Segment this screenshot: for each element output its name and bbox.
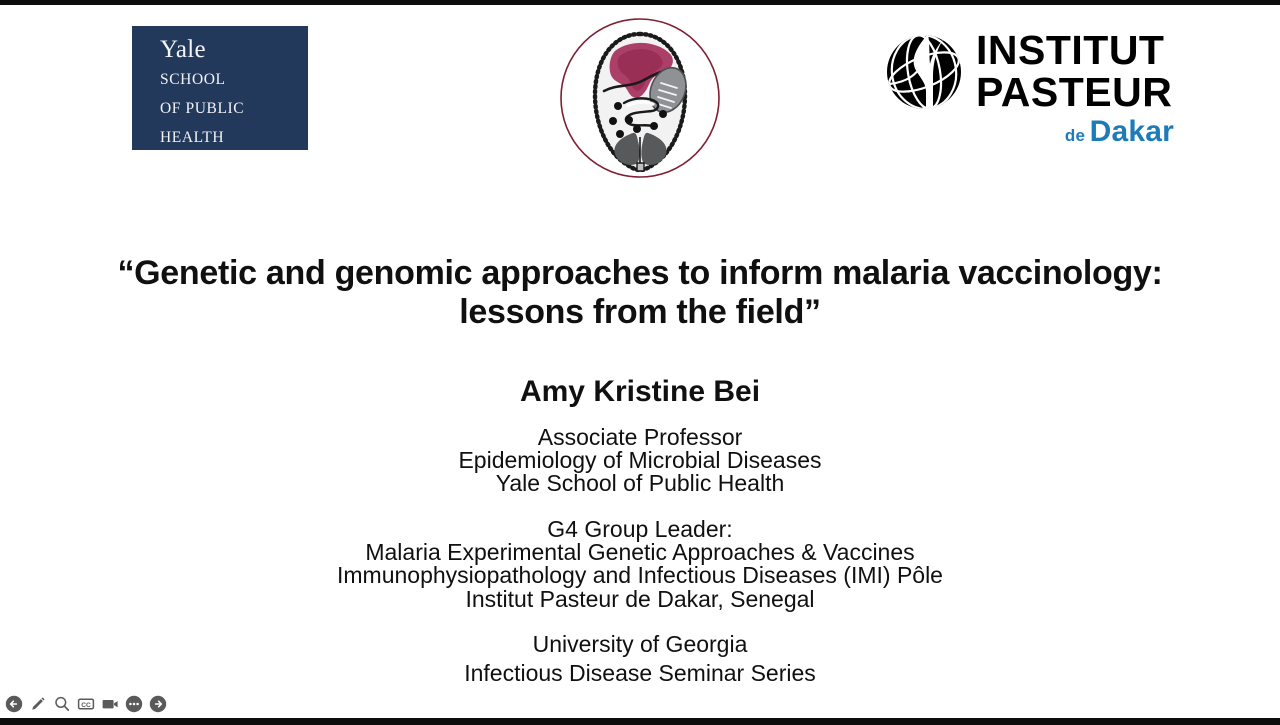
speaker-name: Amy Kristine Bei: [0, 373, 1280, 411]
affiliation-pasteur-line-3: Immunophysiopathology and Infectious Dis…: [0, 564, 1280, 587]
yale-logo-line-of-public: OF PUBLIC: [160, 94, 308, 123]
pasteur-wordmark-line-pasteur: PASTEUR: [976, 71, 1176, 113]
affiliation-pasteur-line-4: Institut Pasteur de Dakar, Senegal: [0, 588, 1280, 611]
talk-title-line-2: lessons from the field”: [0, 293, 1280, 332]
more-options-icon[interactable]: [124, 694, 143, 713]
affiliation-yale: Associate Professor Epidemiology of Micr…: [0, 426, 1280, 496]
yale-logo-wordmark: Yale: [160, 34, 308, 65]
letterbox-top-bar: [0, 0, 1280, 5]
institut-pasteur-de-dakar-logo: INSTITUT PASTEUR de Dakar: [884, 29, 1174, 149]
cc-icon[interactable]: CC: [76, 694, 95, 713]
forward-arrow-icon[interactable]: [148, 694, 167, 713]
affiliation-pasteur-line-2: Malaria Experimental Genetic Approaches …: [0, 541, 1280, 564]
back-arrow-icon[interactable]: [4, 694, 23, 713]
pasteur-wordmark-line-institut: INSTITUT: [976, 29, 1176, 71]
malaria-parasite-roundel-logo: [559, 17, 721, 179]
affiliation-yale-line-3: Yale School of Public Health: [0, 472, 1280, 495]
talk-title-line-1: “Genetic and genomic approaches to infor…: [0, 254, 1280, 293]
pencil-icon[interactable]: [28, 694, 47, 713]
affiliation-yale-line-1: Associate Professor: [0, 426, 1280, 449]
letterbox-bottom-bar: [0, 718, 1280, 725]
player-toolbar: CC: [0, 692, 1280, 718]
pasteur-dakar-label: Dakar: [1090, 115, 1174, 148]
parasite-icon: [559, 17, 721, 179]
pasteur-globe-icon: [884, 32, 964, 112]
svg-text:CC: CC: [81, 702, 91, 709]
search-icon[interactable]: [52, 694, 71, 713]
event-series: Infectious Disease Seminar Series: [0, 659, 1280, 688]
affiliation-pasteur: G4 Group Leader: Malaria Experimental Ge…: [0, 518, 1280, 611]
pasteur-de-label: de: [1065, 126, 1085, 145]
affiliation-pasteur-line-1: G4 Group Leader:: [0, 518, 1280, 541]
logo-row: Yale SCHOOL OF PUBLIC HEALTH: [0, 5, 1280, 185]
video-camera-icon[interactable]: [100, 694, 119, 713]
yale-logo-line-health: HEALTH: [160, 123, 308, 152]
yale-school-of-public-health-logo: Yale SCHOOL OF PUBLIC HEALTH: [132, 26, 308, 150]
pasteur-city-label: de Dakar: [1065, 115, 1174, 149]
presentation-slide: Yale SCHOOL OF PUBLIC HEALTH: [0, 5, 1280, 718]
event-host: University of Georgia: [0, 630, 1280, 659]
talk-title: “Genetic and genomic approaches to infor…: [0, 254, 1280, 332]
yale-logo-line-school: SCHOOL: [160, 65, 308, 94]
pasteur-wordmark: INSTITUT PASTEUR: [976, 29, 1176, 113]
affiliation-yale-line-2: Epidemiology of Microbial Diseases: [0, 449, 1280, 472]
